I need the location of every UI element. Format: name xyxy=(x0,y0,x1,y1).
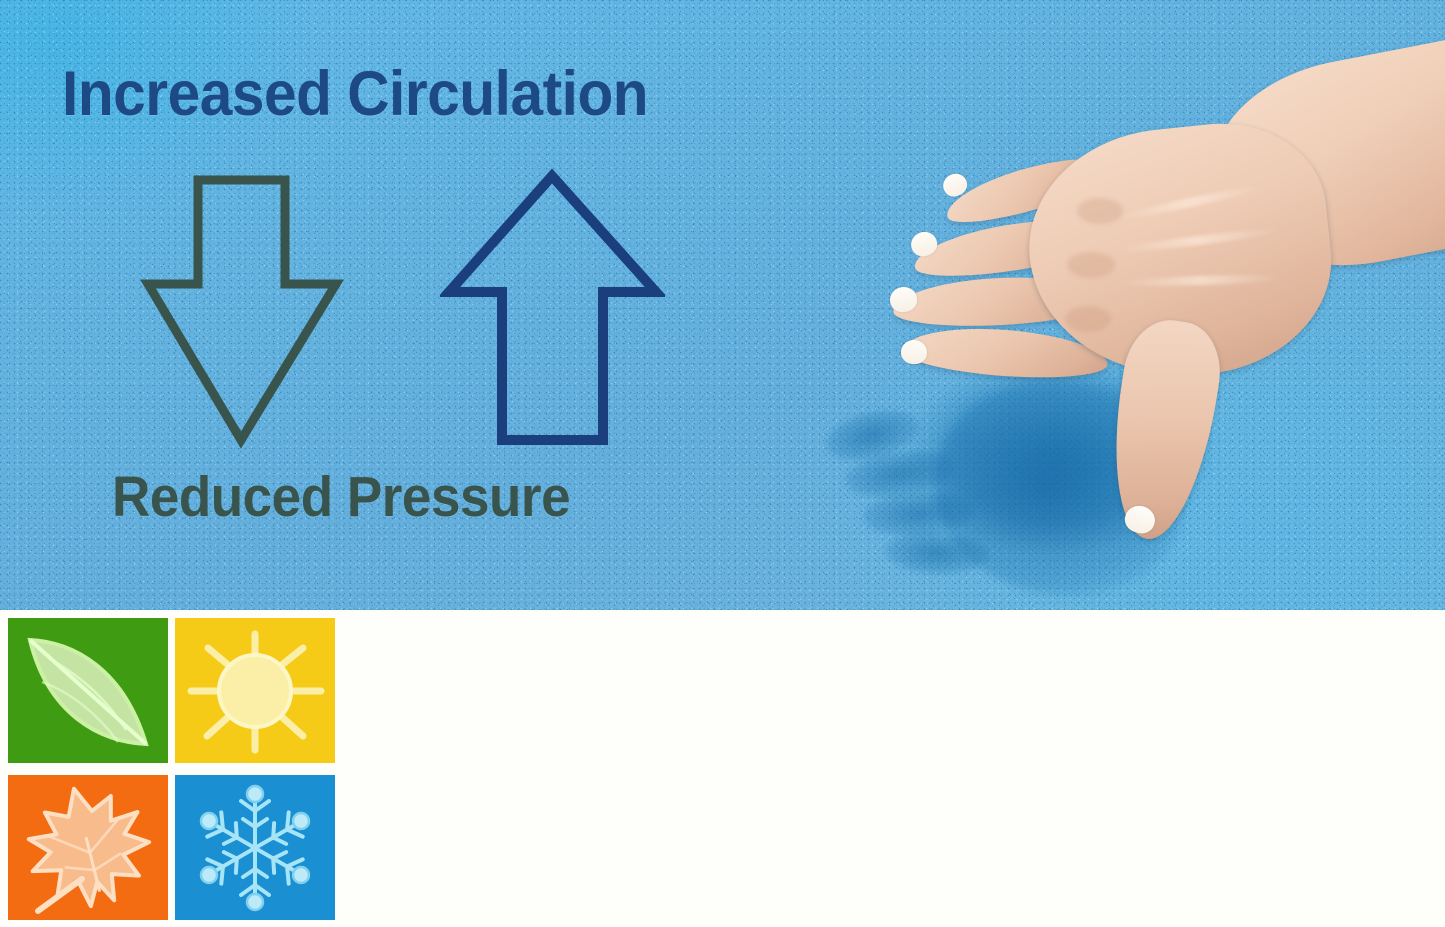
maple-leaf-icon xyxy=(8,775,168,920)
hand-photo-region xyxy=(815,0,1445,610)
leaf-icon xyxy=(8,618,168,763)
fingernail xyxy=(901,340,928,365)
season-tile-grid xyxy=(8,618,338,920)
knuckle xyxy=(1067,252,1115,278)
snowflake-icon xyxy=(175,775,335,920)
product-feature-image: Increased Circulation Reduced Pressure xyxy=(0,0,1445,927)
sun-icon xyxy=(175,618,335,763)
memory-foam-photo: Increased Circulation Reduced Pressure xyxy=(0,0,1445,610)
knuckle xyxy=(1077,198,1123,224)
knuckle xyxy=(1065,306,1111,332)
season-tile-spring xyxy=(8,618,168,763)
season-tile-autumn xyxy=(8,775,168,920)
increased-circulation-label: Increased Circulation xyxy=(62,58,648,130)
feature-band: 100% GEL-Infused Memory Foam with Temper… xyxy=(0,610,1445,927)
season-tile-winter xyxy=(175,775,335,920)
reduced-pressure-label: Reduced Pressure xyxy=(112,464,570,530)
down-arrow-icon xyxy=(140,172,345,450)
up-arrow-icon xyxy=(440,168,665,448)
hand xyxy=(815,0,1445,610)
season-tile-summer xyxy=(175,618,335,763)
